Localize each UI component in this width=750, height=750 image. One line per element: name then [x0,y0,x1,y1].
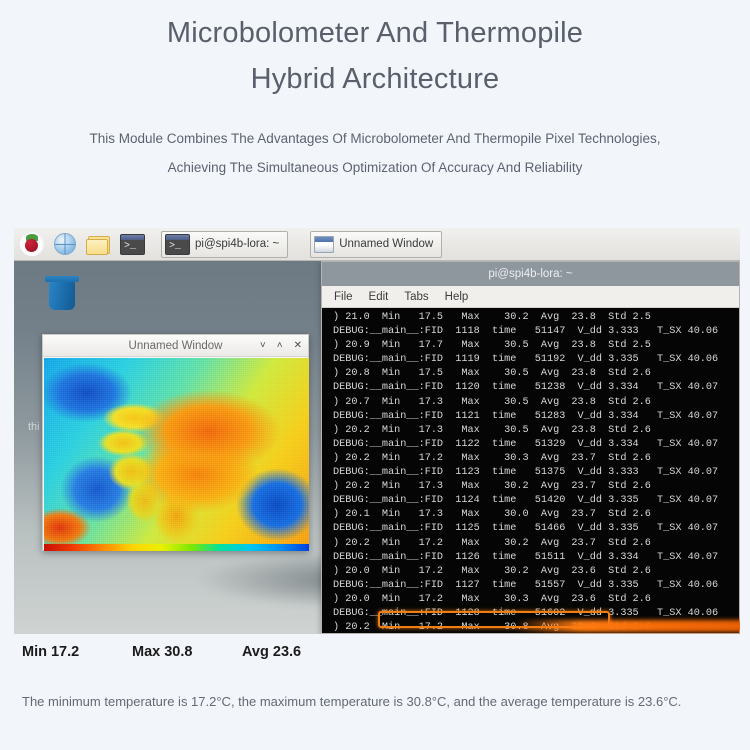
trash-bin-icon[interactable] [47,276,77,310]
page-title-line2: Hybrid Architecture [0,56,750,102]
maximize-icon[interactable]: ˄ [277,341,283,351]
window-icon [314,236,334,253]
menu-help[interactable]: Help [445,291,469,303]
terminal-line: ) 20.7 Min 17.3 Max 30.5 Avg 23.8 Std 2.… [333,396,739,410]
terminal-menubar: File Edit Tabs Help [322,286,739,308]
terminal-window[interactable]: pi@spi4b-lora: ~ File Edit Tabs Help ) 2… [321,261,740,634]
taskbar-task-terminal-label: pi@spi4b-lora: ~ [195,238,279,250]
terminal-line: DEBUG:__main__:FID 1128 time 51602 V_dd … [333,607,739,621]
terminal-line: ) 20.2 Min 17.3 Max 30.2 Avg 23.7 Std 2.… [333,480,739,494]
trash-body [49,282,75,310]
terminal-line: ) 20.9 Min 17.7 Max 30.5 Avg 23.8 Std 2.… [333,339,739,353]
stats-row: Min 17.2 Max 30.8 Avg 23.6 [22,644,352,660]
footnote-text: The minimum temperature is 17.2°C, the m… [22,688,720,715]
menu-file[interactable]: File [334,291,353,303]
desktop-partial-text: thi [28,421,40,433]
terminal-line: ) 20.2 Min 17.3 Max 30.5 Avg 23.8 Std 2.… [333,424,739,438]
taskbar-task-terminal[interactable]: pi@spi4b-lora: ~ [161,231,288,258]
page-subtitle-line2: Achieving The Simultaneous Optimization … [0,153,750,182]
terminal-line: ) 20.8 Min 17.5 Max 30.5 Avg 23.8 Std 2.… [333,367,739,381]
desktop-screenshot: pi@spi4b-lora: ~ Unnamed Window thi Unna… [14,228,740,634]
thermal-image-window[interactable]: Unnamed Window ˅ ˄ ✕ [42,334,309,551]
desktop-background: thi Unnamed Window ˅ ˄ ✕ pi@spi4b-lora: … [14,261,740,634]
terminal-line: ) 20.0 Min 17.2 Max 30.2 Avg 23.6 Std 2.… [333,565,739,579]
taskbar-task-unnamed-window[interactable]: Unnamed Window [310,231,442,258]
terminal-line: DEBUG:__main__:FID 1126 time 51511 V_dd … [333,551,739,565]
stat-max: Max 30.8 [132,644,242,660]
terminal-line: DEBUG:__main__:FID 1118 time 51147 V_dd … [333,325,739,339]
terminal-line: ) 20.1 Min 17.3 Max 30.0 Avg 23.7 Std 2.… [333,508,739,522]
terminal-line: DEBUG:__main__:FID 1119 time 51192 V_dd … [333,353,739,367]
terminal-line: DEBUG:__main__:FID 1121 time 51283 V_dd … [333,410,739,424]
menu-edit[interactable]: Edit [369,291,389,303]
terminal-icon[interactable] [120,234,145,255]
terminal-title: pi@spi4b-lora: ~ [488,268,572,280]
page-title-line1: Microbolometer And Thermopile [0,10,750,56]
terminal-line: ) 20.2 Min 17.2 Max 30.3 Avg 23.7 Std 2.… [333,452,739,466]
terminal-line: DEBUG:__main__:FID 1120 time 51238 V_dd … [333,381,739,395]
thermal-hand-image [44,358,309,551]
stat-min: Min 17.2 [22,644,132,660]
thermal-window-controls: ˅ ˄ ✕ [260,335,302,357]
menu-tabs[interactable]: Tabs [404,291,428,303]
terminal-output: ) 21.0 Min 17.5 Max 30.2 Avg 23.8 Std 2.… [322,308,739,633]
terminal-line: DEBUG:__main__:FID 1125 time 51466 V_dd … [333,522,739,536]
terminal-line: ) 20.2 Min 17.2 Max 30.2 Avg 23.7 Std 2.… [333,537,739,551]
page-subtitle: This Module Combines The Advantages Of M… [0,102,750,182]
terminal-line: DEBUG:__main__:FID 1127 time 51557 V_dd … [333,579,739,593]
terminal-line: DEBUG:__main__:FID 1122 time 51329 V_dd … [333,438,739,452]
orange-glow-bar [514,620,740,632]
web-browser-icon[interactable] [54,233,76,255]
page-subtitle-line1: This Module Combines The Advantages Of M… [0,124,750,153]
terminal-line: DEBUG:__main__:FID 1123 time 51375 V_dd … [333,466,739,480]
stat-avg: Avg 23.6 [242,644,352,660]
minimize-icon[interactable]: ˅ [260,341,266,351]
terminal-line: DEBUG:__main__:FID 1124 time 51420 V_dd … [333,494,739,508]
terminal-line: ) 21.0 Min 17.5 Max 30.2 Avg 23.8 Std 2.… [333,311,739,325]
thermal-noise-overlay [44,358,309,551]
taskbar: pi@spi4b-lora: ~ Unnamed Window [14,228,740,261]
thermal-window-titlebar[interactable]: Unnamed Window ˅ ˄ ✕ [43,335,308,357]
page-title: Microbolometer And Thermopile Hybrid Arc… [0,0,750,102]
terminal-icon [165,234,190,255]
terminal-titlebar[interactable]: pi@spi4b-lora: ~ [322,262,739,286]
raspberry-pi-menu-icon[interactable] [20,232,44,256]
taskbar-task-unnamed-window-label: Unnamed Window [339,238,433,250]
close-icon[interactable]: ✕ [294,341,302,351]
thermal-colorbar [44,544,309,551]
terminal-line: ) 20.0 Min 17.2 Max 30.3 Avg 23.6 Std 2.… [333,593,739,607]
file-manager-icon[interactable] [86,235,110,254]
thermal-window-title: Unnamed Window [129,340,223,352]
